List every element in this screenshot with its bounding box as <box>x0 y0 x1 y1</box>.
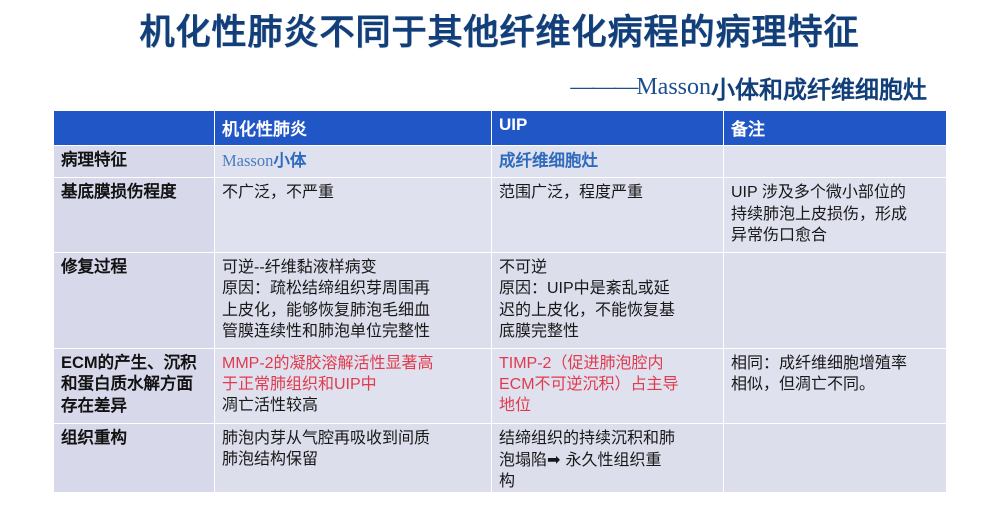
cell-line: 持续肺泡上皮损伤，形成 <box>731 204 939 225</box>
cell-line: 构 <box>499 471 716 492</box>
cell-line: 范围广泛，程度严重 <box>499 182 716 203</box>
cell-uip-pathology: 成纤维细胞灶 <box>492 146 724 178</box>
row-label-repair-process: 修复过程 <box>54 252 215 348</box>
header-cell-blank <box>54 111 215 146</box>
table-header-row: 机化性肺炎 UIP 备注 <box>54 111 947 146</box>
cell-op-pathology: Masson小体 <box>215 146 492 178</box>
row-label-ecm: ECM的产生、沉积和蛋白质水解方面存在差异 <box>54 348 215 423</box>
table-row: 组织重构 肺泡内芽从气腔再吸收到间质 肺泡结构保留 结缔组织的持续沉积和肺 泡塌… <box>54 423 947 492</box>
subtitle: ———Masson小体和成纤维细胞灶 <box>570 70 927 105</box>
cell-line: 上皮化，能够恢复肺泡毛细血 <box>222 300 484 321</box>
row-label-tissue-remodeling: 组织重构 <box>54 423 215 492</box>
cell-op-ecm: MMP-2的凝胶溶解活性显著高 于正常肺组织和UIP中 凋亡活性较高 <box>215 348 492 423</box>
table-header: 机化性肺炎 UIP 备注 <box>54 111 947 146</box>
cell-note-pathology <box>724 146 947 178</box>
fibroblast-foci-text: 成纤维细胞灶 <box>499 152 598 170</box>
comparison-table-wrapper: 机化性肺炎 UIP 备注 病理特征 Masson小体 成纤维细胞灶 <box>53 110 946 493</box>
table-row: ECM的产生、沉积和蛋白质水解方面存在差异 MMP-2的凝胶溶解活性显著高 于正… <box>54 348 947 423</box>
subtitle-dashes: ——— <box>570 74 636 100</box>
cell-line: 原因：疏松结缔组织芽周围再 <box>222 278 484 299</box>
table-row: 修复过程 可逆--纤维黏液样病变 原因：疏松结缔组织芽周围再 上皮化，能够恢复肺… <box>54 252 947 348</box>
cell-uip-tissue-remodeling: 结缔组织的持续沉积和肺 泡塌陷➡ 永久性组织重 构 <box>492 423 724 492</box>
cell-line: 结缔组织的持续沉积和肺 <box>499 428 716 449</box>
masson-latin-text: Masson <box>222 151 273 170</box>
cell-op-tissue-remodeling: 肺泡内芽从气腔再吸收到间质 肺泡结构保留 <box>215 423 492 492</box>
cell-line: 不广泛，不严重 <box>222 182 484 203</box>
header-cell-op: 机化性肺炎 <box>215 111 492 146</box>
slide-page: 机化性肺炎不同于其他纤维化病程的病理特征 ———Masson小体和成纤维细胞灶 … <box>0 0 999 505</box>
cell-op-repair-process: 可逆--纤维黏液样病变 原因：疏松结缔组织芽周围再 上皮化，能够恢复肺泡毛细血 … <box>215 252 492 348</box>
cell-line: MMP-2的凝胶溶解活性显著高 <box>222 353 484 374</box>
cell-line: UIP 涉及多个微小部位的 <box>731 182 939 203</box>
cell-line: 地位 <box>499 395 716 416</box>
cell-line: 肺泡内芽从气腔再吸收到间质 <box>222 428 484 449</box>
masson-cn-text: 小体 <box>273 152 306 170</box>
cell-line: 管膜连续性和肺泡单位完整性 <box>222 321 484 342</box>
subtitle-latin: Masson <box>636 74 711 100</box>
row-label-pathology: 病理特征 <box>54 146 215 178</box>
cell-note-tissue-remodeling <box>724 423 947 492</box>
header-cell-uip: UIP <box>492 111 724 146</box>
comparison-table: 机化性肺炎 UIP 备注 病理特征 Masson小体 成纤维细胞灶 <box>53 110 947 493</box>
cell-line: 原因：UIP中是紊乱或延 <box>499 278 716 299</box>
table-row: 基底膜损伤程度 不广泛，不严重 范围广泛，程度严重 UIP 涉及多个微小部位的 … <box>54 178 947 252</box>
cell-op-basement-membrane: 不广泛，不严重 <box>215 178 492 252</box>
cell-note-repair-process <box>724 252 947 348</box>
cell-line: 相似，但凋亡不同。 <box>731 374 939 395</box>
cell-note-basement-membrane: UIP 涉及多个微小部位的 持续肺泡上皮损伤，形成 异常伤口愈合 <box>724 178 947 252</box>
cell-line: ECM不可逆沉积）占主导 <box>499 374 716 395</box>
cell-line: 肺泡结构保留 <box>222 449 484 470</box>
cell-uip-repair-process: 不可逆 原因：UIP中是紊乱或延 迟的上皮化，不能恢复基 底膜完整性 <box>492 252 724 348</box>
cell-line: 于正常肺组织和UIP中 <box>222 374 484 395</box>
cell-line: 凋亡活性较高 <box>222 395 484 416</box>
title-block: 机化性肺炎不同于其他纤维化病程的病理特征 <box>0 14 999 53</box>
cell-uip-basement-membrane: 范围广泛，程度严重 <box>492 178 724 252</box>
header-cell-note: 备注 <box>724 111 947 146</box>
row-label-basement-membrane: 基底膜损伤程度 <box>54 178 215 252</box>
cell-uip-ecm: TIMP-2（促进肺泡腔内 ECM不可逆沉积）占主导 地位 <box>492 348 724 423</box>
cell-line: TIMP-2（促进肺泡腔内 <box>499 353 716 374</box>
cell-line: 不可逆 <box>499 257 716 278</box>
cell-note-ecm: 相同：成纤维细胞增殖率 相似，但凋亡不同。 <box>724 348 947 423</box>
cell-line: 底膜完整性 <box>499 321 716 342</box>
page-title: 机化性肺炎不同于其他纤维化病程的病理特征 <box>139 14 859 53</box>
table-row: 病理特征 Masson小体 成纤维细胞灶 <box>54 146 947 178</box>
cell-line: 迟的上皮化，不能恢复基 <box>499 300 716 321</box>
subtitle-chinese: 小体和成纤维细胞灶 <box>711 77 927 104</box>
cell-line: 异常伤口愈合 <box>731 225 939 246</box>
table-body: 病理特征 Masson小体 成纤维细胞灶 基底膜损伤程度 不广泛，不严重 <box>54 146 947 493</box>
cell-line: 可逆--纤维黏液样病变 <box>222 257 484 278</box>
cell-line-with-arrow: 泡塌陷➡ 永久性组织重 <box>499 449 716 470</box>
cell-line: 相同：成纤维细胞增殖率 <box>731 353 939 374</box>
